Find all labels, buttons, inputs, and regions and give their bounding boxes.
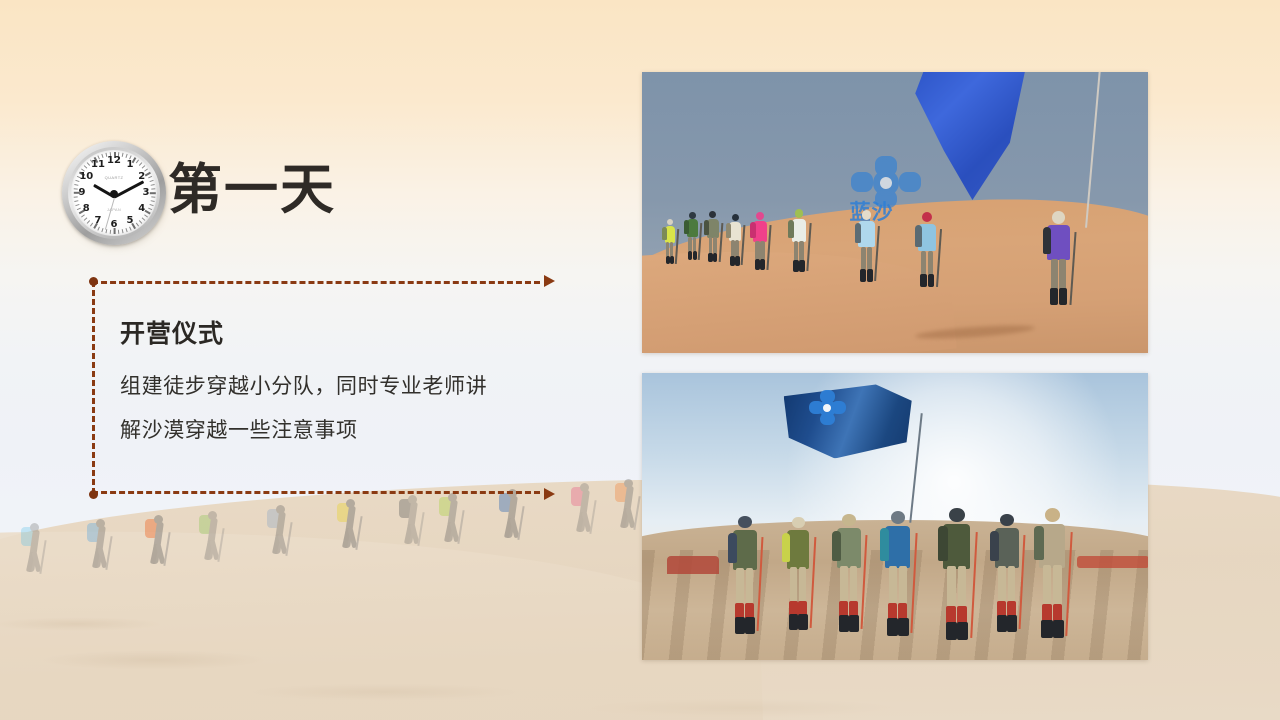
member-boot — [997, 615, 1007, 632]
member-hat — [1000, 514, 1014, 526]
clock-tick — [122, 229, 124, 233]
hiker-trekking-pole — [217, 528, 224, 562]
trekker-boot — [867, 269, 873, 282]
member-hat — [1045, 508, 1060, 521]
trekker-boot — [708, 253, 712, 262]
clock-tick — [151, 184, 155, 186]
trekker-boot — [713, 253, 717, 262]
trekker-figure — [914, 212, 941, 289]
hiker-trekking-pole — [417, 512, 424, 546]
hiker-silhouette — [400, 488, 430, 544]
hiker-head — [154, 515, 163, 524]
clock-tick — [148, 176, 152, 179]
clock-numeral: 11 — [91, 160, 105, 170]
clock-tick — [129, 227, 132, 231]
content-line-1: 组建徒步穿越小分队，同时专业老师讲 — [120, 364, 590, 408]
trekker-boot — [928, 274, 934, 288]
clock-tick — [150, 204, 154, 206]
hiker-head — [346, 499, 355, 508]
team-member-figure — [832, 514, 866, 632]
member-boot — [898, 618, 909, 636]
clock-tick — [144, 214, 148, 217]
logo-petal-left — [851, 172, 873, 192]
trekker-head — [922, 212, 932, 222]
team-member-figure — [880, 511, 916, 636]
member-hat — [891, 511, 905, 524]
clock-tick — [118, 230, 119, 234]
logo-petal-right — [899, 172, 921, 192]
trekker-figure — [704, 211, 722, 263]
clock-tick — [142, 217, 146, 220]
clock-tick — [81, 214, 85, 217]
hiker-trekking-pole — [285, 522, 292, 556]
trekker-leg — [867, 247, 872, 270]
member-hat — [842, 514, 856, 526]
trekker-backpack — [662, 227, 666, 240]
hiker-trekking-pole — [457, 510, 464, 544]
member-backpack — [1034, 526, 1044, 560]
member-leg — [746, 568, 753, 608]
photo2-banner-logo-icon — [809, 390, 849, 430]
clock-numeral: 10 — [79, 172, 93, 182]
member-boot — [839, 615, 849, 632]
trekker-pole — [806, 223, 811, 271]
trekker-pole — [875, 226, 880, 281]
member-boot — [1007, 615, 1017, 632]
member-boot — [735, 617, 745, 634]
trekker-boot — [688, 251, 692, 260]
hiker-silhouette — [200, 504, 230, 560]
trekker-head — [709, 211, 716, 218]
hiker-silhouette — [22, 516, 52, 572]
trekker-leg — [666, 242, 669, 257]
team-member-figure — [938, 508, 976, 640]
clock-center-cap — [110, 190, 118, 198]
member-hat — [949, 508, 964, 522]
photo-team-flag-group[interactable] — [642, 373, 1148, 660]
clock-numeral: 6 — [107, 220, 121, 230]
trekker-boot — [755, 259, 760, 270]
hiker-head — [276, 505, 285, 514]
clock-tick — [97, 227, 100, 231]
photo2-camp-tent-right — [1077, 556, 1148, 568]
trekker-backpack — [1043, 227, 1052, 254]
member-leg — [947, 566, 955, 611]
hiker-head — [30, 523, 39, 532]
member-backpack — [782, 533, 790, 562]
trekker-pole — [936, 229, 942, 287]
clock-tick — [87, 220, 90, 224]
trekker-leg — [755, 241, 759, 260]
clock-brand-text: QUARTZ — [96, 175, 132, 180]
bracket-corner-dot-bottom — [89, 490, 98, 499]
hiker-head — [624, 479, 633, 488]
wall-clock-icon: 121234567891011 QUARTZ JAPAN — [62, 141, 170, 249]
clock-tick — [74, 200, 78, 202]
clock-tick — [84, 217, 88, 220]
trekker-figure — [684, 212, 701, 261]
trekker-backpack — [855, 223, 862, 243]
member-leg — [958, 566, 966, 611]
content-body: 组建徒步穿越小分队，同时专业老师讲 解沙漠穿越一些注意事项 — [120, 364, 590, 452]
arrow-head-bottom-icon — [544, 488, 555, 500]
team-member-figure — [782, 517, 815, 630]
member-backpack — [990, 531, 999, 562]
hiker-trekking-pole — [39, 540, 46, 574]
member-leg — [889, 566, 897, 609]
hiker-silhouette — [440, 486, 470, 542]
trekker-leg — [688, 237, 691, 253]
trekker-boot — [670, 256, 674, 264]
trekker-boot — [1059, 288, 1067, 305]
clock-numeral: 8 — [79, 204, 93, 214]
clock-tick — [87, 162, 90, 166]
clock-numeral: 7 — [91, 216, 105, 226]
team-member-figure — [990, 514, 1024, 632]
member-leg — [1043, 565, 1051, 609]
member-leg — [736, 568, 743, 608]
hiker-head — [408, 495, 417, 504]
hiker-head — [208, 511, 217, 520]
clock-tick — [125, 154, 127, 158]
trekker-leg — [735, 240, 739, 257]
trekker-head — [667, 219, 673, 225]
clock-tick — [148, 208, 152, 211]
trekker-leg — [1059, 259, 1066, 290]
bracket-corner-dot-top — [89, 277, 98, 286]
photo2-camp-tent-left — [667, 556, 719, 574]
trekker-backpack — [788, 220, 794, 238]
trekker-leg — [794, 241, 798, 261]
clock-tick — [101, 154, 103, 158]
trekker-boot — [735, 256, 739, 266]
clock-tick — [84, 165, 88, 168]
hiker-silhouette — [338, 492, 368, 548]
team-member-figure — [1034, 508, 1071, 638]
member-leg — [998, 566, 1005, 606]
clock-tick — [74, 184, 78, 186]
clock-numeral: 3 — [139, 188, 153, 198]
bracket-top-line — [92, 281, 540, 284]
clock-tick — [110, 230, 111, 234]
trekker-head — [862, 210, 872, 220]
trekker-boot — [860, 269, 866, 282]
clock-numeral: 12 — [107, 156, 121, 166]
bracket-bottom-line — [92, 491, 540, 494]
trekker-leg — [713, 237, 717, 254]
member-backpack — [728, 533, 737, 564]
clock-numeral: 5 — [123, 216, 137, 226]
trekker-boot — [693, 251, 697, 260]
clock-tick — [139, 220, 142, 224]
trekker-leg — [1051, 259, 1058, 290]
hiker-trekking-pole — [355, 516, 362, 550]
trekker-backpack — [750, 222, 755, 239]
trekker-head — [732, 214, 739, 221]
clock-numeral: 1 — [123, 160, 137, 170]
hiker-trekking-pole — [163, 532, 170, 566]
clock-submodel-text: JAPAN — [96, 207, 132, 212]
member-backpack — [880, 528, 889, 561]
trekker-pole — [767, 225, 772, 270]
clock-numeral: 4 — [135, 204, 149, 214]
clock-tick — [142, 165, 146, 168]
member-boot — [887, 618, 898, 636]
member-boot — [849, 615, 859, 632]
trekker-pole — [1069, 232, 1076, 305]
member-boot — [946, 622, 957, 641]
trekker-backpack — [726, 223, 731, 238]
hiker-head — [448, 493, 457, 502]
member-leg — [799, 567, 806, 606]
slide-root: 121234567891011 QUARTZ JAPAN 第一天 开营仪式 组建… — [0, 0, 1280, 720]
trekker-figure — [788, 209, 810, 273]
trekker-head — [756, 212, 764, 220]
hiker-silhouettes — [0, 488, 660, 578]
member-boot — [798, 614, 808, 630]
trekker-figure — [1042, 211, 1076, 307]
hiker-trekking-pole — [589, 500, 596, 534]
member-leg — [899, 566, 907, 609]
trekker-boot — [799, 260, 804, 271]
trekker-figure — [854, 210, 879, 283]
hiker-trekking-pole — [517, 506, 524, 540]
clock-tick — [150, 180, 154, 182]
member-leg — [790, 567, 797, 606]
member-boot — [745, 617, 755, 634]
trekker-figure — [662, 219, 678, 265]
hiker-silhouette — [88, 512, 118, 568]
member-hat — [738, 516, 752, 528]
trekker-figure — [726, 214, 745, 267]
trekker-leg — [921, 251, 926, 276]
clock-tick — [122, 153, 124, 157]
clock-tick — [101, 228, 103, 232]
trekker-leg — [861, 247, 866, 270]
trekker-leg — [693, 237, 696, 253]
trekker-head — [689, 212, 696, 219]
hiker-silhouette — [572, 476, 602, 532]
hiker-trekking-pole — [105, 536, 112, 570]
arrow-head-top-icon — [544, 275, 555, 287]
trekker-head — [1052, 211, 1065, 224]
trekker-leg — [928, 251, 933, 276]
member-leg — [1008, 566, 1015, 606]
trekker-boot — [730, 256, 734, 266]
clock-tick — [139, 162, 142, 166]
page-title: 第一天 — [168, 160, 336, 220]
trekker-backpack — [704, 220, 709, 235]
team-member-figure — [728, 516, 762, 634]
trekker-leg — [799, 241, 803, 261]
hiker-head — [96, 519, 105, 528]
bracket-left-line — [92, 281, 95, 494]
hiker-trekking-pole — [633, 496, 640, 530]
trekker-boot — [1050, 288, 1058, 305]
hiker-silhouette — [146, 508, 176, 564]
trekker-head — [795, 209, 803, 217]
photo-desert-trek-line[interactable]: 蓝沙 — [642, 72, 1148, 353]
trekker-boot — [793, 260, 798, 271]
content-heading: 开营仪式 — [120, 314, 224, 350]
trekker-backpack — [915, 225, 922, 247]
clock-numeral: 9 — [75, 188, 89, 198]
member-leg — [1053, 565, 1061, 609]
hiker-silhouette — [268, 498, 298, 554]
member-backpack — [832, 531, 841, 562]
member-boot — [957, 622, 968, 641]
trekker-leg — [709, 237, 713, 254]
trekker-leg — [731, 240, 735, 257]
trekker-leg — [760, 241, 764, 260]
member-boot — [1041, 620, 1052, 638]
member-leg — [850, 566, 857, 606]
clock-tick — [151, 200, 155, 202]
member-hat — [792, 517, 805, 529]
content-line-2: 解沙漠穿越一些注意事项 — [120, 408, 590, 452]
clock-tick — [125, 228, 127, 232]
trekker-figure — [750, 212, 771, 271]
trekker-backpack — [684, 220, 688, 234]
trekker-boot — [760, 259, 765, 270]
trekker-leg — [670, 242, 673, 257]
member-boot — [789, 614, 799, 630]
member-backpack — [938, 526, 948, 560]
trekker-boot — [920, 274, 926, 288]
hiker-head — [580, 483, 589, 492]
member-leg — [840, 566, 847, 606]
member-boot — [1053, 620, 1064, 638]
